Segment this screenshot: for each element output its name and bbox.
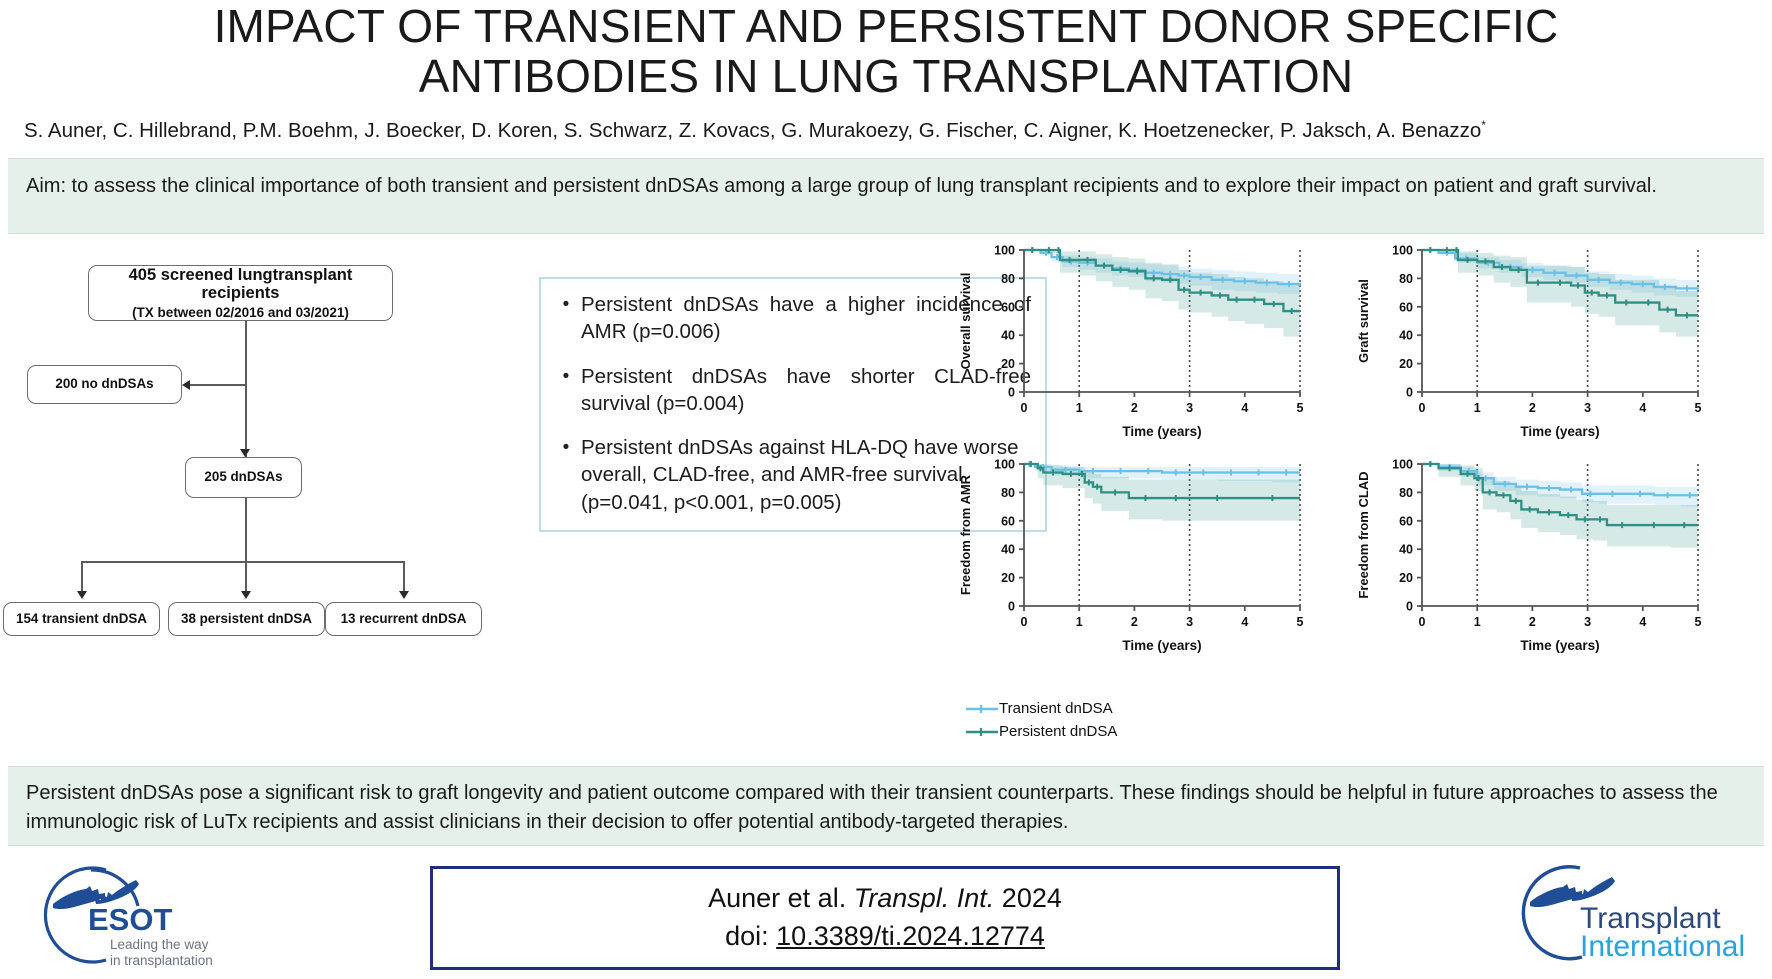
flow-connector-no-dndsa [190, 384, 246, 386]
svg-text:2: 2 [1131, 401, 1138, 415]
esot-wordmark: ESOT [88, 902, 172, 937]
ti-hand-right-icon [1571, 877, 1615, 901]
flow-arrow-recurrent [399, 591, 409, 599]
legend-item-transient: Transient dnDSA [965, 700, 1205, 717]
flow-dndsa-label: 205 dnDSAs [204, 470, 282, 485]
svg-text:4: 4 [1241, 401, 1248, 415]
citation-box: Auner et al. Transpl. Int. 2024 doi: 10.… [430, 866, 1340, 970]
flow-connector-split-bar [81, 561, 404, 563]
svg-text:5: 5 [1297, 401, 1304, 415]
svg-text:3: 3 [1186, 615, 1193, 629]
svg-text:Overall survival: Overall survival [958, 273, 973, 370]
svg-text:4: 4 [1639, 401, 1646, 415]
svg-text:20: 20 [1399, 357, 1413, 371]
plot-freedom-from-clad: 020406080100012345Freedom from CLADTime … [1350, 450, 1710, 658]
conclusion-text: Persistent dnDSAs pose a significant ris… [26, 779, 1746, 837]
legend-item-persistent: Persistent dnDSA [965, 723, 1205, 740]
svg-text:40: 40 [1001, 543, 1015, 557]
svg-text:Freedom from CLAD: Freedom from CLAD [1356, 471, 1371, 598]
author-names: S. Auner, C. Hillebrand, P.M. Boehm, J. … [24, 119, 1481, 142]
citation-line-1: Auner et al. Transpl. Int. 2024 [708, 882, 1062, 916]
svg-text:60: 60 [1001, 514, 1015, 528]
svg-text:60: 60 [1399, 514, 1413, 528]
svg-text:1: 1 [1474, 615, 1481, 629]
svg-text:20: 20 [1399, 571, 1413, 585]
svg-text:1: 1 [1474, 401, 1481, 415]
flow-no-dndsa-label: 200 no dnDSAs [55, 377, 153, 392]
flow-persistent-label: 38 persistent dnDSA [181, 612, 312, 627]
plot-legend: Transient dnDSA Persistent dnDSA [965, 700, 1205, 746]
svg-text:4: 4 [1639, 615, 1646, 629]
flow-box-recurrent: 13 recurrent dnDSA [325, 602, 482, 636]
svg-text:2: 2 [1529, 615, 1536, 629]
corresponding-author-marker: * [1481, 118, 1486, 132]
svg-text:0: 0 [1419, 401, 1426, 415]
aim-section: Aim: to assess the clinical importance o… [8, 158, 1764, 234]
svg-text:3: 3 [1584, 615, 1591, 629]
flow-box-screened: 405 screened lungtransplant recipients (… [88, 265, 393, 321]
svg-text:2: 2 [1131, 615, 1138, 629]
svg-text:1: 1 [1076, 401, 1083, 415]
flow-box-no-dndsa: 200 no dnDSAs [27, 365, 182, 404]
svg-text:100: 100 [1392, 458, 1413, 472]
svg-text:80: 80 [1399, 486, 1413, 500]
svg-text:0: 0 [1021, 615, 1028, 629]
flow-connector-right-drop [403, 561, 405, 595]
ti-wordmark-line2: International [1580, 930, 1745, 963]
flow-arrow-no-dndsa [182, 380, 190, 390]
svg-text:80: 80 [1001, 486, 1015, 500]
svg-text:0: 0 [1406, 600, 1413, 614]
svg-text:3: 3 [1186, 401, 1193, 415]
svg-text:40: 40 [1001, 329, 1015, 343]
survival-plots-panel: 020406080100012345Overall survivalTime (… [952, 236, 1772, 696]
svg-text:0: 0 [1008, 600, 1015, 614]
svg-text:4: 4 [1241, 615, 1248, 629]
esot-tagline-line1: Leading the way [110, 937, 209, 952]
svg-text:5: 5 [1695, 401, 1702, 415]
svg-text:60: 60 [1399, 300, 1413, 314]
legend-swatch-persistent-icon [965, 726, 999, 738]
legend-label-transient: Transient dnDSA [999, 700, 1113, 717]
legend-swatch-transient-icon [965, 703, 999, 715]
svg-text:100: 100 [994, 458, 1015, 472]
svg-text:20: 20 [1001, 357, 1015, 371]
svg-text:80: 80 [1001, 272, 1015, 286]
svg-text:Freedom from AMR: Freedom from AMR [958, 474, 973, 595]
svg-text:3: 3 [1584, 401, 1591, 415]
page-title: IMPACT OF TRANSIENT AND PERSISTENT DONOR… [0, 2, 1772, 101]
transplant-international-logo: Transplant International [1508, 856, 1768, 974]
citation-year: 2024 [1002, 883, 1062, 913]
svg-text:5: 5 [1695, 615, 1702, 629]
ti-hand-left-icon [1530, 884, 1582, 907]
flow-connector-left-drop [81, 561, 83, 595]
plot-freedom-from-amr: 020406080100012345Freedom from AMRTime (… [952, 450, 1312, 658]
svg-text:0: 0 [1008, 386, 1015, 400]
doi-label: doi: [725, 921, 769, 951]
svg-text:Graft survival: Graft survival [1356, 279, 1371, 363]
ti-circle-arc-icon [1523, 867, 1582, 959]
bullet-icon: • [551, 434, 581, 516]
svg-text:Time (years): Time (years) [1520, 638, 1599, 653]
svg-text:80: 80 [1399, 272, 1413, 286]
citation-line-2: doi: 10.3389/ti.2024.12774 [725, 920, 1045, 954]
esot-logo: ESOT Leading the way in transplantation [28, 856, 243, 974]
svg-text:60: 60 [1001, 300, 1015, 314]
svg-text:Time (years): Time (years) [1520, 424, 1599, 439]
doi-link[interactable]: 10.3389/ti.2024.12774 [776, 921, 1045, 951]
svg-text:Time (years): Time (years) [1122, 424, 1201, 439]
aim-text: Aim: to assess the clinical importance o… [26, 172, 1746, 201]
conclusion-section: Persistent dnDSAs pose a significant ris… [8, 766, 1764, 846]
flow-screened-line2: (TX between 02/2016 and 03/2021) [132, 305, 349, 321]
flow-arrow-transient [77, 591, 87, 599]
flow-screened-line1: 405 screened lungtransplant recipients [89, 266, 392, 303]
ti-logo-graphic: Transplant International [1508, 856, 1768, 974]
title-line-2: ANTIBODIES IN LUNG TRANSPLANTATION [0, 52, 1772, 102]
flow-connector-split-stem [245, 498, 247, 562]
flow-arrow-persistent [241, 591, 251, 599]
svg-text:0: 0 [1406, 386, 1413, 400]
svg-text:100: 100 [994, 244, 1015, 258]
svg-text:0: 0 [1419, 615, 1426, 629]
svg-text:20: 20 [1001, 571, 1015, 585]
plot-overall-survival: 020406080100012345Overall survivalTime (… [952, 236, 1312, 444]
citation-journal: Transpl. Int. [854, 883, 995, 913]
flow-connector-trunk [245, 321, 247, 457]
flow-transient-label: 154 transient dnDSA [16, 612, 147, 627]
graphical-abstract-page: IMPACT OF TRANSIENT AND PERSISTENT DONOR… [0, 0, 1772, 974]
flow-arrow-dndsa [240, 449, 250, 457]
bullet-icon: • [551, 363, 581, 418]
svg-text:40: 40 [1399, 329, 1413, 343]
flow-connector-mid-drop [245, 561, 247, 595]
flow-box-persistent: 38 persistent dnDSA [168, 602, 325, 636]
plot-graft-survival: 020406080100012345Graft survivalTime (ye… [1350, 236, 1710, 444]
esot-logo-graphic: ESOT Leading the way in transplantation [28, 856, 243, 974]
esot-tagline-line2: in transplantation [110, 953, 213, 968]
svg-text:1: 1 [1076, 615, 1083, 629]
svg-text:40: 40 [1399, 543, 1413, 557]
bullet-icon: • [551, 291, 581, 346]
study-flowchart: 405 screened lungtransplant recipients (… [0, 240, 545, 670]
flow-recurrent-label: 13 recurrent dnDSA [341, 612, 467, 627]
svg-text:2: 2 [1529, 401, 1536, 415]
svg-text:5: 5 [1297, 615, 1304, 629]
svg-text:0: 0 [1021, 401, 1028, 415]
svg-text:100: 100 [1392, 244, 1413, 258]
citation-authors: Auner et al. [708, 883, 846, 913]
flow-box-transient: 154 transient dnDSA [3, 602, 160, 636]
svg-text:Time (years): Time (years) [1122, 638, 1201, 653]
author-list: S. Auner, C. Hillebrand, P.M. Boehm, J. … [24, 118, 1764, 143]
flow-box-dndsa: 205 dnDSAs [185, 457, 302, 498]
legend-label-persistent: Persistent dnDSA [999, 723, 1117, 740]
title-line-1: IMPACT OF TRANSIENT AND PERSISTENT DONOR… [0, 2, 1772, 52]
